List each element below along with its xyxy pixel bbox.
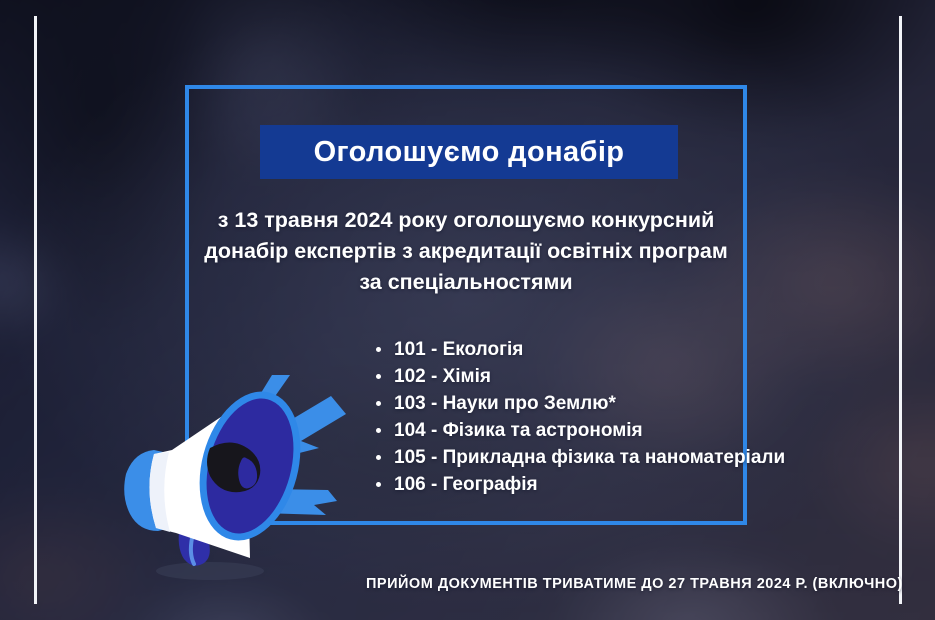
list-item-label: 106 - Географія <box>394 474 538 495</box>
right-vertical-rule <box>899 16 902 604</box>
list-item-label: 101 - Екологія <box>394 339 523 360</box>
bullet-icon <box>376 401 381 406</box>
intro-paragraph: з 13 травня 2024 року оголошуємо конкурс… <box>196 205 736 298</box>
title-banner: Оголошуємо донабір <box>260 125 678 179</box>
list-item: 102 - Хімія <box>372 363 785 390</box>
bullet-icon <box>376 347 381 352</box>
bullet-icon <box>376 455 381 460</box>
list-item: 105 - Прикладна фізика та наноматеріали <box>372 444 785 471</box>
left-vertical-rule <box>34 16 37 604</box>
deadline-note: ПРИЙОМ ДОКУМЕНТІВ ТРИВАТИМЕ ДО 27 ТРАВНЯ… <box>366 576 903 592</box>
list-item: 104 - Фізика та астрономія <box>372 417 785 444</box>
list-item-label: 102 - Хімія <box>394 366 491 387</box>
megaphone-icon <box>118 362 368 592</box>
page-title: Оголошуємо донабір <box>314 136 625 169</box>
bullet-icon <box>376 374 381 379</box>
list-item-label: 105 - Прикладна фізика та наноматеріали <box>394 447 785 468</box>
list-item: 101 - Екологія <box>372 336 785 363</box>
bullet-icon <box>376 482 381 487</box>
specialty-list: 101 - Екологія 102 - Хімія 103 - Науки п… <box>372 336 785 498</box>
list-item-label: 103 - Науки про Землю* <box>394 393 616 414</box>
list-item-label: 104 - Фізика та астрономія <box>394 420 643 441</box>
list-item: 106 - Географія <box>372 471 785 498</box>
bullet-icon <box>376 428 381 433</box>
list-item: 103 - Науки про Землю* <box>372 390 785 417</box>
announcement-poster: Оголошуємо донабір з 13 травня 2024 року… <box>0 0 935 620</box>
